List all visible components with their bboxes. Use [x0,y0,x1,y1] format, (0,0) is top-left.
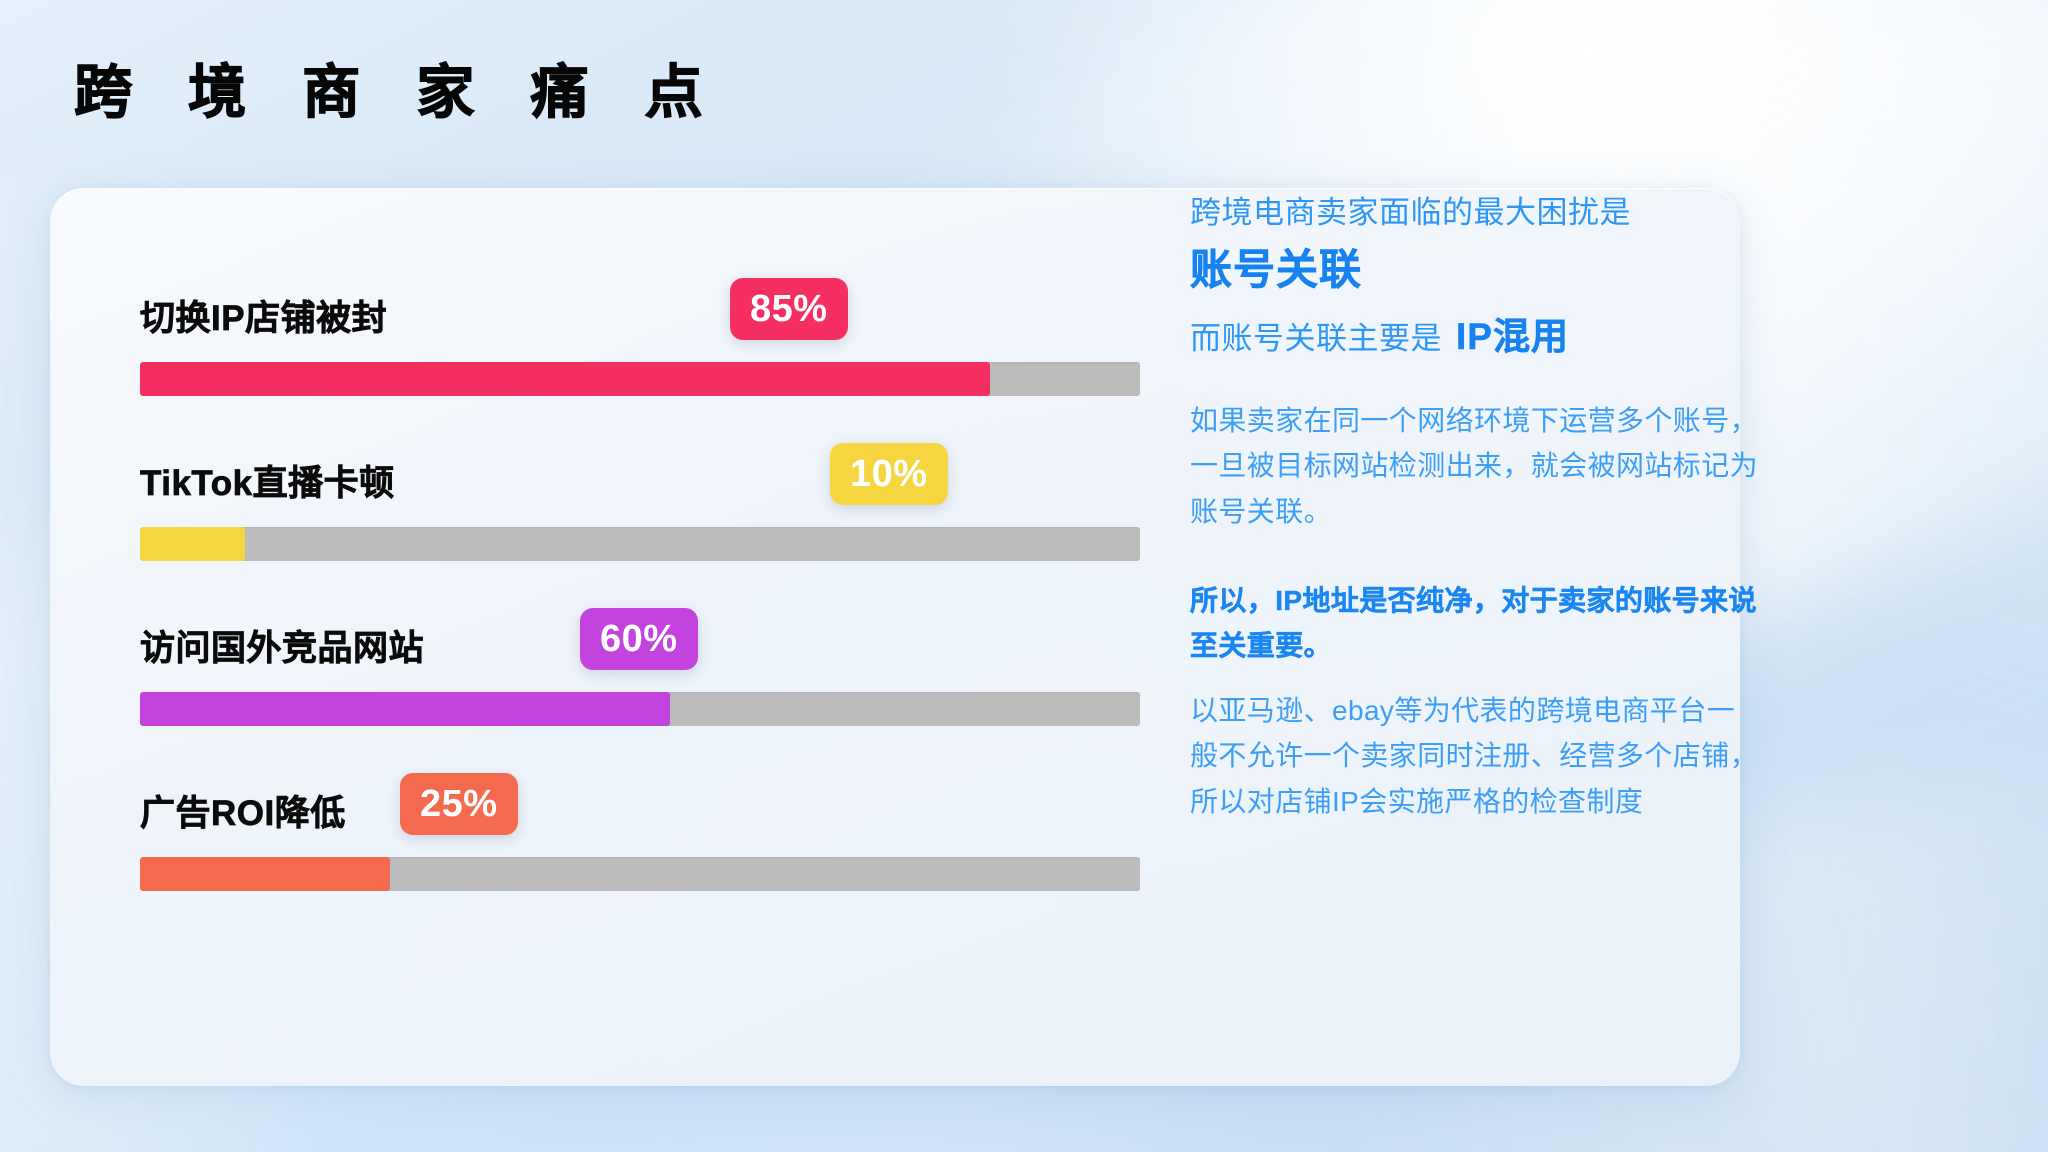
bar-fill [140,692,670,726]
bar-value-badge: 60% [580,608,698,670]
bar-fill [140,362,990,396]
pain-point-bar-chart: 切换IP店铺被封 85% TikTok直播卡顿 10% 访问国外竞品网站 60% [108,248,1160,1028]
bar-track [140,692,1140,726]
paragraph-emphasis: 所以，IP地址是否纯净，对于卖家的账号来说至关重要。 [1190,578,1760,669]
bar-track [140,857,1140,891]
bar-label: 广告ROI降低 [140,785,346,836]
bar-value-badge: 25% [400,773,518,835]
bar-value-badge: 85% [730,278,848,340]
bar-row: 广告ROI降低 25% [108,773,1118,913]
bar-row: 访问国外竞品网站 60% [108,608,1118,748]
subheading-row: 而账号关联主要是 IP混用 [1190,306,1569,360]
keyword-heading: 账号关联 [1190,240,1362,301]
bar-fill [140,857,390,891]
paragraph-reason: 如果卖家在同一个网络环境下运营多个账号，一旦被目标网站检测出来，就会被网站标记为… [1190,398,1760,534]
bar-row: TikTok直播卡顿 10% [108,443,1118,583]
bar-header: 访问国外竞品网站 60% [108,608,1118,684]
subheading-strong: IP混用 [1456,306,1569,360]
bar-row: 切换IP店铺被封 85% [108,278,1118,418]
paragraph-policy: 以亚马逊、ebay等为代表的跨境电商平台一般不允许一个卖家同时注册、经营多个店铺… [1190,688,1760,824]
bar-label: 切换IP店铺被封 [140,290,387,341]
lead-text: 跨境电商卖家面临的最大困扰是 [1190,190,1631,237]
content-card: 切换IP店铺被封 85% TikTok直播卡顿 10% 访问国外竞品网站 60% [50,188,1740,1086]
explanation-panel: 跨境电商卖家面临的最大困扰是 账号关联 而账号关联主要是 IP混用 如果卖家在同… [1190,188,1750,1086]
bar-header: TikTok直播卡顿 10% [108,443,1118,519]
page-title: 跨 境 商 家 痛 点 [74,60,723,127]
bar-fill [140,527,245,561]
bar-label: TikTok直播卡顿 [140,455,395,506]
bar-track [140,362,1140,396]
bar-value-badge: 10% [830,443,948,505]
bar-label: 访问国外竞品网站 [140,620,424,671]
bar-header: 切换IP店铺被封 85% [108,278,1118,354]
bar-header: 广告ROI降低 25% [108,773,1118,849]
bar-track [140,527,1140,561]
subheading-prefix: 而账号关联主要是 [1190,313,1442,358]
